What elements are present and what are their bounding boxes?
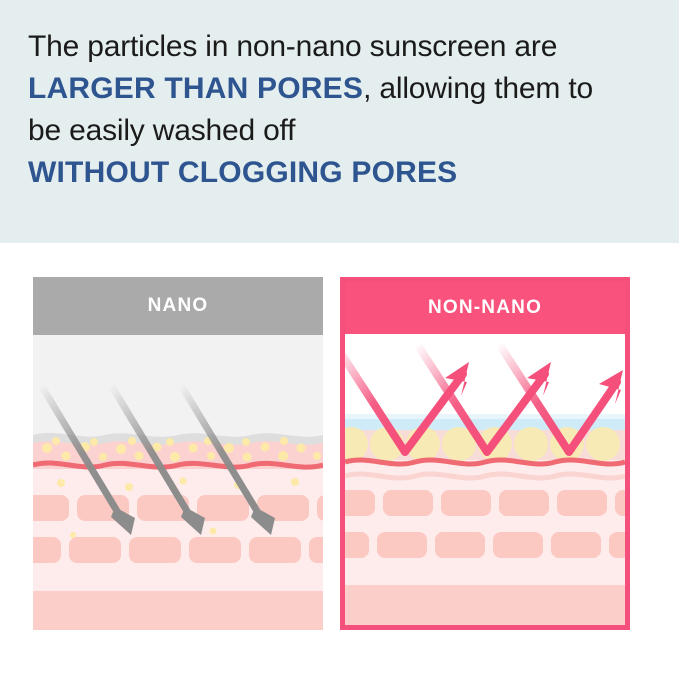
nano-ray-arrowheads <box>111 507 275 535</box>
pore-row-1 <box>33 495 323 521</box>
non-nano-particles <box>345 427 620 461</box>
comparison-panels: NANO <box>0 243 679 679</box>
pore-row-1 <box>345 490 625 516</box>
panel-nano-title: NANO <box>148 295 209 317</box>
panel-non-nano-header: NON-NANO <box>345 282 625 334</box>
headline-line-2: LARGER THAN PORES, allowing them to <box>28 68 668 110</box>
non-nano-reflected-rays <box>405 374 617 452</box>
headline-banner: The particles in non-nano sunscreen are … <box>0 0 679 243</box>
headline-line-1: The particles in non-nano sunscreen are <box>28 26 668 68</box>
skin-surface-line <box>33 433 323 445</box>
dermis-boundary-line <box>33 463 323 467</box>
non-nano-skin-diagram <box>345 334 625 625</box>
headline-emphasis-without-clogging-pores: WITHOUT CLOGGING PORES <box>28 156 457 189</box>
headline-line-1-text: The particles in non-nano sunscreen are <box>28 30 557 63</box>
nano-skin-diagram <box>33 335 323 630</box>
nano-particles <box>42 437 321 538</box>
epidermis-layer <box>345 430 625 460</box>
headline-text: The particles in non-nano sunscreen are … <box>28 26 668 194</box>
headline-line-3-text: be easily washed off <box>28 114 295 147</box>
pore-row-2 <box>33 537 323 563</box>
headline-line-2-rest: , allowing them to <box>363 72 593 105</box>
panel-non-nano: NON-NANO <box>340 277 630 630</box>
pore-row-2 <box>345 532 625 558</box>
panel-nano-body <box>33 335 323 630</box>
epidermis-layer <box>33 437 323 463</box>
nano-penetrating-rays <box>41 385 263 521</box>
panel-nano: NANO <box>33 277 323 630</box>
dermis-secondary-wave <box>345 474 625 478</box>
dermis-boundary-line <box>345 460 625 464</box>
non-nano-arrowheads <box>445 362 623 404</box>
panel-nano-header: NANO <box>33 277 323 335</box>
infographic-page: The particles in non-nano sunscreen are … <box>0 0 679 679</box>
headline-line-4: WITHOUT CLOGGING PORES <box>28 152 668 194</box>
panel-non-nano-title: NON-NANO <box>428 297 542 319</box>
panel-non-nano-body <box>345 334 625 625</box>
non-nano-incoming-rays <box>345 344 569 452</box>
sunscreen-film <box>345 418 625 430</box>
headline-emphasis-larger-than-pores: LARGER THAN PORES <box>28 72 363 105</box>
headline-line-3: be easily washed off <box>28 110 668 152</box>
